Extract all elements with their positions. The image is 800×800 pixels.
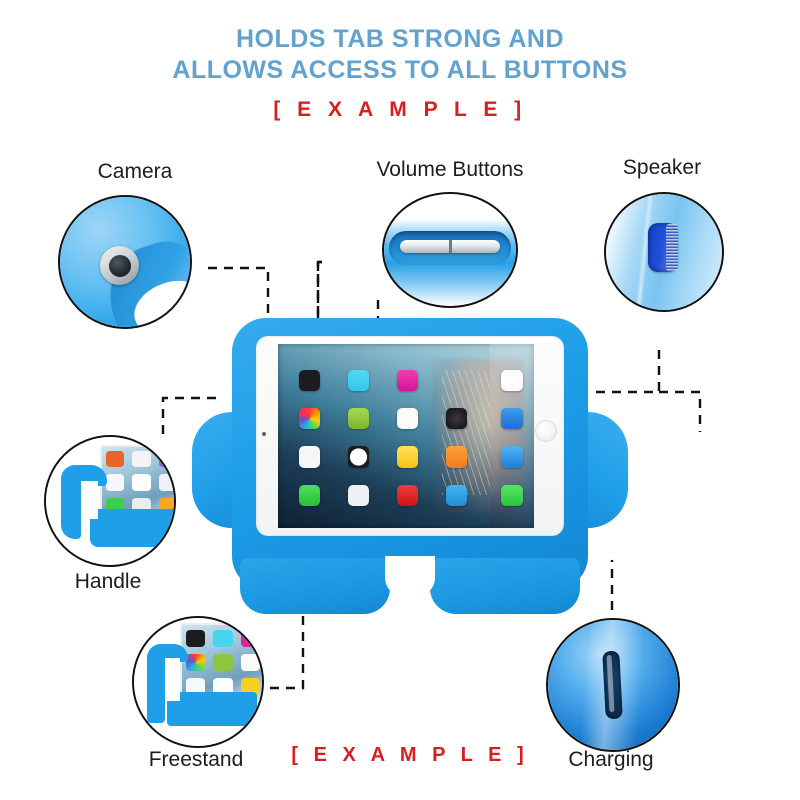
app-icon[interactable]: [397, 446, 418, 467]
tablet-bezel: [256, 336, 564, 536]
callout-label-camera: Camera: [60, 160, 210, 184]
callout-bubble-camera: [58, 195, 192, 329]
dock-icon[interactable]: [501, 408, 523, 430]
callout-bubble-charging: [546, 618, 680, 752]
app-icon[interactable]: [348, 408, 369, 429]
app-icon[interactable]: [397, 370, 418, 391]
charging-port-cutout-art: [548, 620, 678, 750]
example-tag-top: [ E X A M P L E ]: [0, 98, 800, 122]
callout-label-charging: Charging: [541, 748, 681, 772]
heading-line-1: HOLDS TAB STRONG AND: [0, 24, 800, 55]
connector-speaker-2: [659, 392, 700, 432]
case-left-foot: [240, 558, 390, 614]
app-icon[interactable]: [397, 485, 418, 506]
example-tag-bottom: [ E X A M P L E ]: [290, 744, 530, 767]
app-icon[interactable]: [348, 446, 369, 467]
app-icon[interactable]: [348, 370, 369, 391]
camera-cutout-art: [60, 197, 190, 327]
dock-icon[interactable]: [501, 446, 523, 468]
app-icon[interactable]: [446, 408, 467, 429]
callout-bubble-speaker: [604, 192, 724, 312]
app-icon[interactable]: [446, 446, 467, 467]
app-icon[interactable]: [299, 446, 320, 467]
speaker-cutout-art: [606, 194, 722, 310]
product-infographic: HOLDS TAB STRONG AND ALLOWS ACCESS TO AL…: [0, 0, 800, 800]
app-icon-grid: [291, 366, 475, 510]
dock-icon[interactable]: [501, 370, 523, 392]
callout-label-speaker: Speaker: [592, 156, 732, 180]
app-icon[interactable]: [446, 485, 467, 506]
case-foot-gap: [385, 556, 435, 596]
app-icon[interactable]: [299, 370, 320, 391]
freestand-side-view-art: [134, 618, 262, 746]
callout-bubble-handle: [44, 435, 176, 567]
callout-label-volume-buttons: Volume Buttons: [345, 158, 555, 182]
product-illustration: [180, 300, 640, 630]
app-icon[interactable]: [348, 485, 369, 506]
volume-buttons-cutout-art: [384, 194, 516, 306]
home-button[interactable]: [535, 420, 557, 442]
callout-label-freestand: Freestand: [126, 748, 266, 772]
dock-icon-column: [497, 366, 528, 510]
heading-line-2: ALLOWS ACCESS TO ALL BUTTONS: [0, 55, 800, 86]
case-right-foot: [430, 558, 580, 614]
heading-block: HOLDS TAB STRONG AND ALLOWS ACCESS TO AL…: [0, 24, 800, 122]
handle-side-view-art: [46, 437, 174, 565]
tablet-screen[interactable]: [278, 344, 534, 528]
dock-icon[interactable]: [501, 485, 523, 507]
callout-bubble-volume-buttons: [382, 192, 518, 308]
app-icon[interactable]: [299, 408, 320, 429]
callout-bubble-freestand: [132, 616, 264, 748]
app-icon: [446, 370, 467, 391]
front-camera-dot: [262, 432, 266, 436]
app-icon[interactable]: [299, 485, 320, 506]
app-icon[interactable]: [397, 408, 418, 429]
callout-label-handle: Handle: [44, 570, 172, 594]
